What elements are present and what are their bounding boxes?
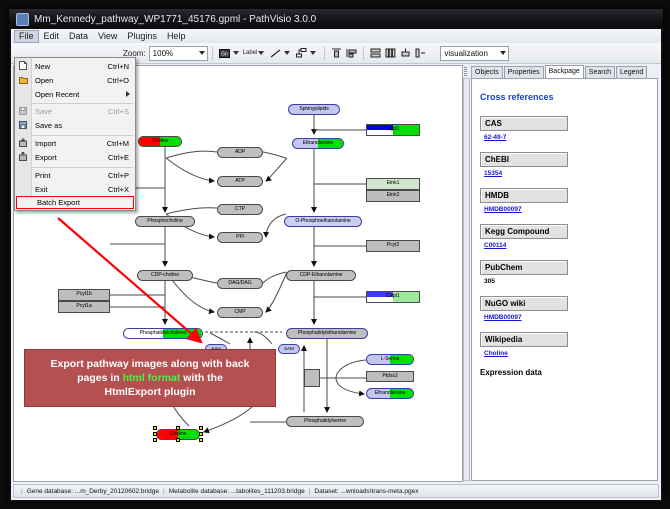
status-gene-database-value: ...m_Derby_20120602.bridge (75, 488, 159, 495)
menu-file[interactable]: File (14, 30, 39, 43)
node-cept1[interactable]: Cept1 (366, 291, 420, 303)
node-dag[interactable]: DAG/DAG (217, 278, 263, 289)
align-left-icon[interactable] (345, 47, 358, 60)
xref-value-nugo-wiki[interactable]: HMDB00097 (484, 314, 657, 321)
node-label: Phosphatidylcholines (140, 331, 187, 336)
xref-source-nugo-wiki: NuGO wiki (480, 296, 568, 311)
menu-plugins[interactable]: Plugins (122, 30, 162, 43)
menu-item-label: Open Recent (31, 90, 126, 99)
node-label: SAH (211, 347, 220, 352)
node-label: CMP (234, 310, 245, 315)
callout-highlight: html format (123, 372, 181, 384)
status-metabolite-database-value: ...tabolites_111203.bridge (231, 488, 305, 495)
xref-value-pubchem: 305 (484, 278, 657, 285)
node-label: CDP-Ethanolamine (300, 273, 343, 278)
toolbar-separator-3 (363, 46, 364, 60)
toolbar-separator (212, 46, 213, 60)
menu-item-label: Print (31, 171, 108, 180)
menu-item-label: Save as (31, 121, 135, 130)
panel-drag-grip[interactable] (464, 66, 469, 77)
node-label: Sgpl1 (387, 127, 400, 132)
menu-item-save: Save Ctrl+S (15, 105, 135, 118)
node-pcyt1b[interactable]: Pcyt1b (58, 289, 110, 301)
callout-line-2c: with the (180, 372, 223, 384)
backpage-content: Cross references CAS 62-49-7 ChEBI 15354… (471, 78, 658, 481)
status-dataset-label: Dataset: (314, 488, 338, 495)
screenshot-root: Mm_Kennedy_pathway_WP1771_45176.gpml - P… (0, 0, 670, 509)
node-phosphatidylserine[interactable]: Phosphatidylserine (286, 416, 364, 427)
status-divider-0: | (21, 488, 23, 495)
panel-tabs[interactable]: Objects Properties Backpage Search Legen… (471, 65, 659, 78)
node-pcyt2[interactable]: Pcyt2 (366, 240, 420, 252)
node-label: Etnk1 (387, 181, 400, 186)
pathvisio-icon (16, 13, 29, 26)
callout-line-1: Export pathway images along with back (51, 358, 250, 370)
expression-data-title: Expression data (480, 368, 657, 377)
menu-help[interactable]: Help (162, 30, 191, 43)
menu-bar[interactable]: File Edit Data View Plugins Help (11, 29, 661, 44)
export-icon (15, 152, 31, 163)
node-label: Phosphatidylserine (304, 419, 346, 424)
node-cmp[interactable]: CMP (217, 307, 263, 318)
node-label: Ethanolamine (303, 141, 334, 146)
menu-item-shortcut: Ctrl+S (108, 107, 135, 116)
menu-item-shortcut: Ctrl+E (108, 153, 135, 162)
save-icon (15, 107, 31, 117)
menu-data[interactable]: Data (64, 30, 93, 43)
node-ethanolamine-2[interactable]: Ethanolamine (366, 388, 414, 399)
new-file-icon (15, 61, 31, 72)
node-label: Phosphatidylethanolamine (298, 331, 356, 336)
node-pcyt1a[interactable]: Pcyt1a (58, 301, 110, 313)
node-label: Phosphocholine (147, 219, 183, 224)
menu-item-shortcut: Ctrl+M (107, 139, 135, 148)
node-ctp[interactable]: CTP (217, 204, 263, 215)
menu-separator-2 (31, 135, 133, 136)
tab-legend[interactable]: Legend (616, 66, 647, 78)
interaction-dropdown-icon[interactable] (310, 51, 316, 55)
node-sphingolipids[interactable]: Sphingolipids (288, 104, 340, 115)
status-divider-2: | (309, 488, 311, 495)
node-etnk2[interactable]: Etnk2 (366, 190, 420, 202)
window-client-area: File Edit Data View Plugins Help Zoom: 1… (11, 29, 661, 500)
menu-view[interactable]: View (93, 30, 122, 43)
menu-item-save-as[interactable]: Save as (15, 119, 135, 132)
stack-vertical-icon[interactable] (369, 47, 382, 60)
node-label: O-Phosphoethanolamine (295, 219, 350, 224)
menu-item-shortcut: Ctrl+X (108, 185, 135, 194)
import-icon (15, 138, 31, 149)
application-window: Mm_Kennedy_pathway_WP1771_45176.gpml - P… (8, 8, 664, 503)
node-label: Pcyt1a (76, 304, 91, 309)
callout-line-3: HtmlExport plugin (105, 386, 196, 398)
xref-source-hmdb: HMDB (480, 188, 568, 203)
align-top-icon[interactable] (330, 47, 343, 60)
node-phosphocholine[interactable]: Phosphocholine (135, 216, 195, 227)
selection-handle-w[interactable] (153, 432, 157, 436)
menu-item-shortcut: Ctrl+N (108, 62, 135, 71)
node-label: CDP-choline (151, 273, 179, 278)
status-metabolite-database-label: Metabolite database: (169, 488, 229, 495)
menu-item-print[interactable]: Print Ctrl+P (15, 169, 135, 182)
node-label: L-Serine (381, 357, 400, 362)
svg-text:Gn: Gn (221, 51, 228, 57)
node-label: DAG/DAG (228, 281, 251, 286)
toolbar-separator-2 (324, 46, 325, 60)
menu-item-open[interactable]: Open Ctrl+O (15, 74, 135, 87)
selection-handle-e[interactable] (199, 432, 203, 436)
annotation-callout: Export pathway images along with back pa… (24, 349, 276, 407)
menu-item-label: Export (31, 153, 108, 162)
node-phosphatidylcholines[interactable]: Phosphatidylcholines (123, 328, 203, 339)
menu-edit[interactable]: Edit (39, 30, 65, 43)
tab-properties[interactable]: Properties (504, 66, 544, 78)
node-ethanolamine-1[interactable]: Ethanolamine (292, 138, 344, 149)
node-l-serine[interactable]: L-Serine (366, 354, 414, 365)
xref-value-wikipedia[interactable]: Choline (484, 350, 657, 357)
menu-item-shortcut: Ctrl+O (107, 76, 135, 85)
selection-handle-s[interactable] (176, 438, 180, 442)
file-menu-dropdown[interactable]: New Ctrl+N Open Ctrl+O Open Recent (14, 57, 136, 211)
node-label: Pcyt2 (387, 243, 399, 248)
callout-line-2a: pages in (77, 372, 123, 384)
node-label: Etnk2 (387, 193, 400, 198)
menu-separator-3 (31, 167, 133, 168)
title-bar: Mm_Kennedy_pathway_WP1771_45176.gpml - P… (9, 9, 663, 29)
menu-item-label: Batch Export (33, 198, 133, 207)
node-label: ATP (235, 179, 244, 184)
distribute-icon[interactable] (384, 47, 397, 60)
menu-item-export[interactable]: Export Ctrl+E (15, 151, 135, 164)
node-label: PPi (236, 235, 244, 240)
xref-value-chebi[interactable]: 15354 (484, 170, 657, 177)
menu-item-label: New (31, 62, 108, 71)
node-label: Cept1 (386, 294, 399, 299)
menu-item-label: Import (31, 139, 107, 148)
menu-item-exit[interactable]: Exit Ctrl+X (15, 183, 135, 196)
zoom-combo[interactable]: 100% (149, 46, 208, 61)
node-adp[interactable]: ADP (217, 147, 263, 158)
status-bar: | Gene database: ...m_Derby_20120602.bri… (13, 484, 659, 498)
status-divider-1: | (163, 488, 165, 495)
save-as-icon (15, 121, 31, 131)
node-label: Choline (170, 432, 187, 437)
chevron-down-icon (199, 51, 205, 55)
xref-value-hmdb[interactable]: HMDB00097 (484, 206, 657, 213)
node-phosphatidylethanolamine[interactable]: Phosphatidylethanolamine (286, 328, 368, 339)
menu-item-batch-export[interactable]: Batch Export (16, 196, 134, 209)
menu-item-label: Save (31, 107, 108, 116)
node-label: Pcyt1b (76, 292, 91, 297)
xref-source-kegg-compound: Kegg Compound (480, 224, 568, 239)
node-cdp-choline[interactable]: CDP-choline (137, 270, 193, 281)
selection-handle-se[interactable] (199, 438, 203, 442)
menu-item-open-recent[interactable]: Open Recent (15, 88, 135, 101)
selection-handle-ne[interactable] (199, 426, 203, 430)
status-dataset-value: ...wnloads\trans-meta.pgex (340, 488, 418, 495)
visualization-combo[interactable]: visualization (440, 46, 509, 61)
interaction-tool-icon[interactable] (295, 47, 308, 60)
label-dropdown-icon[interactable] (258, 51, 264, 55)
xref-source-chebi: ChEBI (480, 152, 568, 167)
label-tool-label: Label (243, 50, 258, 56)
menu-separator-1 (31, 103, 133, 104)
node-o-phosphoethanolamine[interactable]: O-Phosphoethanolamine (284, 216, 362, 227)
visualization-value: visualization (444, 49, 488, 58)
line-dropdown-icon[interactable] (284, 51, 290, 55)
zoom-value: 100% (153, 49, 173, 58)
open-folder-icon (15, 76, 31, 86)
tab-backpage[interactable]: Backpage (545, 65, 584, 78)
node-etnk1[interactable]: Etnk1 (366, 178, 420, 190)
common-width-icon[interactable] (399, 47, 412, 60)
gene-product-tool-icon[interactable]: Gn (218, 47, 231, 60)
menu-item-shortcut: Ctrl+P (108, 171, 135, 180)
node-cdp-ethanolamine[interactable]: CDP-Ethanolamine (286, 270, 356, 281)
common-height-icon[interactable] (414, 47, 427, 60)
node-label: Ptdss2 (382, 374, 397, 379)
node-label: Choline (152, 139, 169, 144)
xref-source-pubchem: PubChem (480, 260, 568, 275)
xref-source-wikipedia: Wikipedia (480, 332, 568, 347)
node-ptdss2[interactable]: Ptdss2 (366, 371, 414, 382)
menu-item-import[interactable]: Import Ctrl+M (15, 137, 135, 150)
xref-value-cas[interactable]: 62-49-7 (484, 134, 657, 141)
node-label: Ethanolamine (375, 391, 406, 396)
chevron-down-icon-2 (500, 51, 506, 55)
node-choline-top[interactable]: Choline (138, 136, 182, 147)
tab-objects[interactable]: Objects (471, 66, 503, 78)
node-label: SAM (284, 347, 294, 352)
xref-source-cas: CAS (480, 116, 568, 131)
node-label: Sphingolipids (299, 107, 329, 112)
node-label: ADP (235, 150, 245, 155)
node-sam[interactable]: SAM (278, 344, 300, 354)
side-panel: Objects Properties Backpage Search Legen… (463, 65, 659, 482)
node-ptdss1[interactable] (304, 369, 320, 387)
menu-item-label: Exit (31, 185, 108, 194)
node-sgpl1[interactable]: Sgpl1 (366, 124, 420, 136)
window-title: Mm_Kennedy_pathway_WP1771_45176.gpml - P… (34, 14, 316, 25)
tab-search[interactable]: Search (585, 66, 615, 78)
node-label: CTP (235, 207, 245, 212)
menu-item-new[interactable]: New Ctrl+N (15, 60, 135, 73)
status-gene-database-label: Gene database: (27, 488, 73, 495)
cross-references-title: Cross references (480, 92, 657, 102)
node-atp[interactable]: ATP (217, 176, 263, 187)
selection-handle-n[interactable] (176, 426, 180, 430)
selection-handle-nw[interactable] (153, 426, 157, 430)
selection-handle-sw[interactable] (153, 438, 157, 442)
chevron-right-icon (126, 90, 135, 99)
line-tool-icon[interactable] (269, 47, 282, 60)
menu-item-label: Open (31, 76, 107, 85)
node-ppi[interactable]: PPi (217, 232, 263, 243)
panel-left-rail (463, 78, 470, 481)
gene-product-dropdown-icon[interactable] (233, 51, 239, 55)
xref-value-kegg-compound[interactable]: C00114 (484, 242, 657, 249)
